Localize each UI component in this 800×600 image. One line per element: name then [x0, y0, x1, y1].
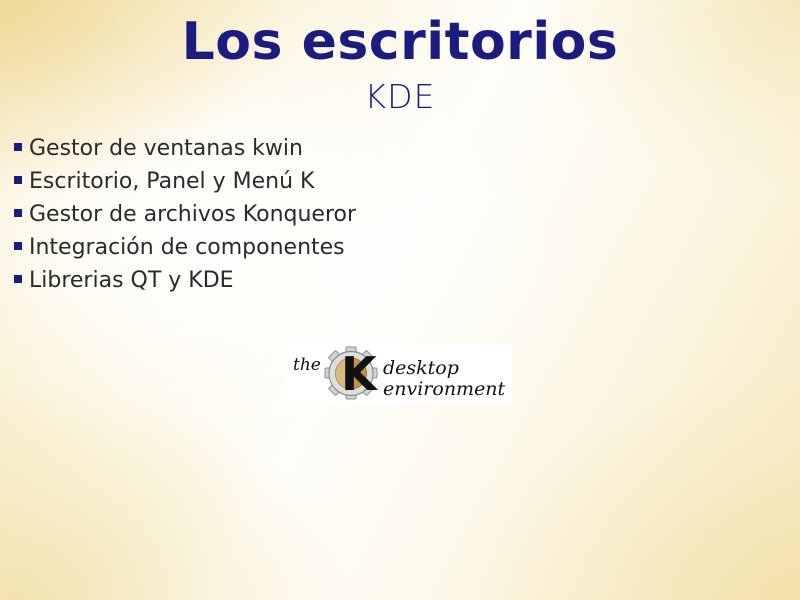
square-bullet-icon	[14, 242, 22, 250]
square-bullet-icon	[14, 176, 22, 184]
square-bullet-icon	[14, 209, 22, 217]
list-item: Librerias QT y KDE	[14, 270, 634, 303]
logo-word-desktop: desktop	[383, 357, 459, 379]
kde-logo-image: the K de	[287, 344, 512, 403]
list-item-label: Librerias QT y KDE	[29, 270, 234, 292]
logo-word-environment: environment	[383, 378, 506, 400]
presentation-slide: Los escritorios KDE Gestor de ventanas k…	[0, 0, 800, 600]
square-bullet-icon	[14, 143, 22, 151]
kde-logo-graphic: the K de	[287, 344, 512, 403]
list-item-label: Gestor de archivos Konqueror	[29, 204, 356, 226]
list-item: Gestor de archivos Konqueror	[14, 204, 634, 237]
list-item-label: Gestor de ventanas kwin	[29, 138, 303, 160]
list-item: Integración de componentes	[14, 237, 634, 270]
list-item-label: Escritorio, Panel y Menú K	[29, 171, 314, 193]
list-item: Gestor de ventanas kwin	[14, 138, 634, 171]
list-item-label: Integración de componentes	[29, 237, 345, 259]
page-title: Los escritorios	[0, 16, 800, 68]
bullet-list: Gestor de ventanas kwin Escritorio, Pane…	[14, 138, 634, 303]
logo-letter-k: K	[341, 347, 379, 401]
page-subtitle: KDE	[0, 80, 800, 113]
square-bullet-icon	[14, 275, 22, 283]
list-item: Escritorio, Panel y Menú K	[14, 171, 634, 204]
logo-word-the: the	[293, 355, 321, 375]
title-block: Los escritorios KDE	[0, 16, 800, 113]
